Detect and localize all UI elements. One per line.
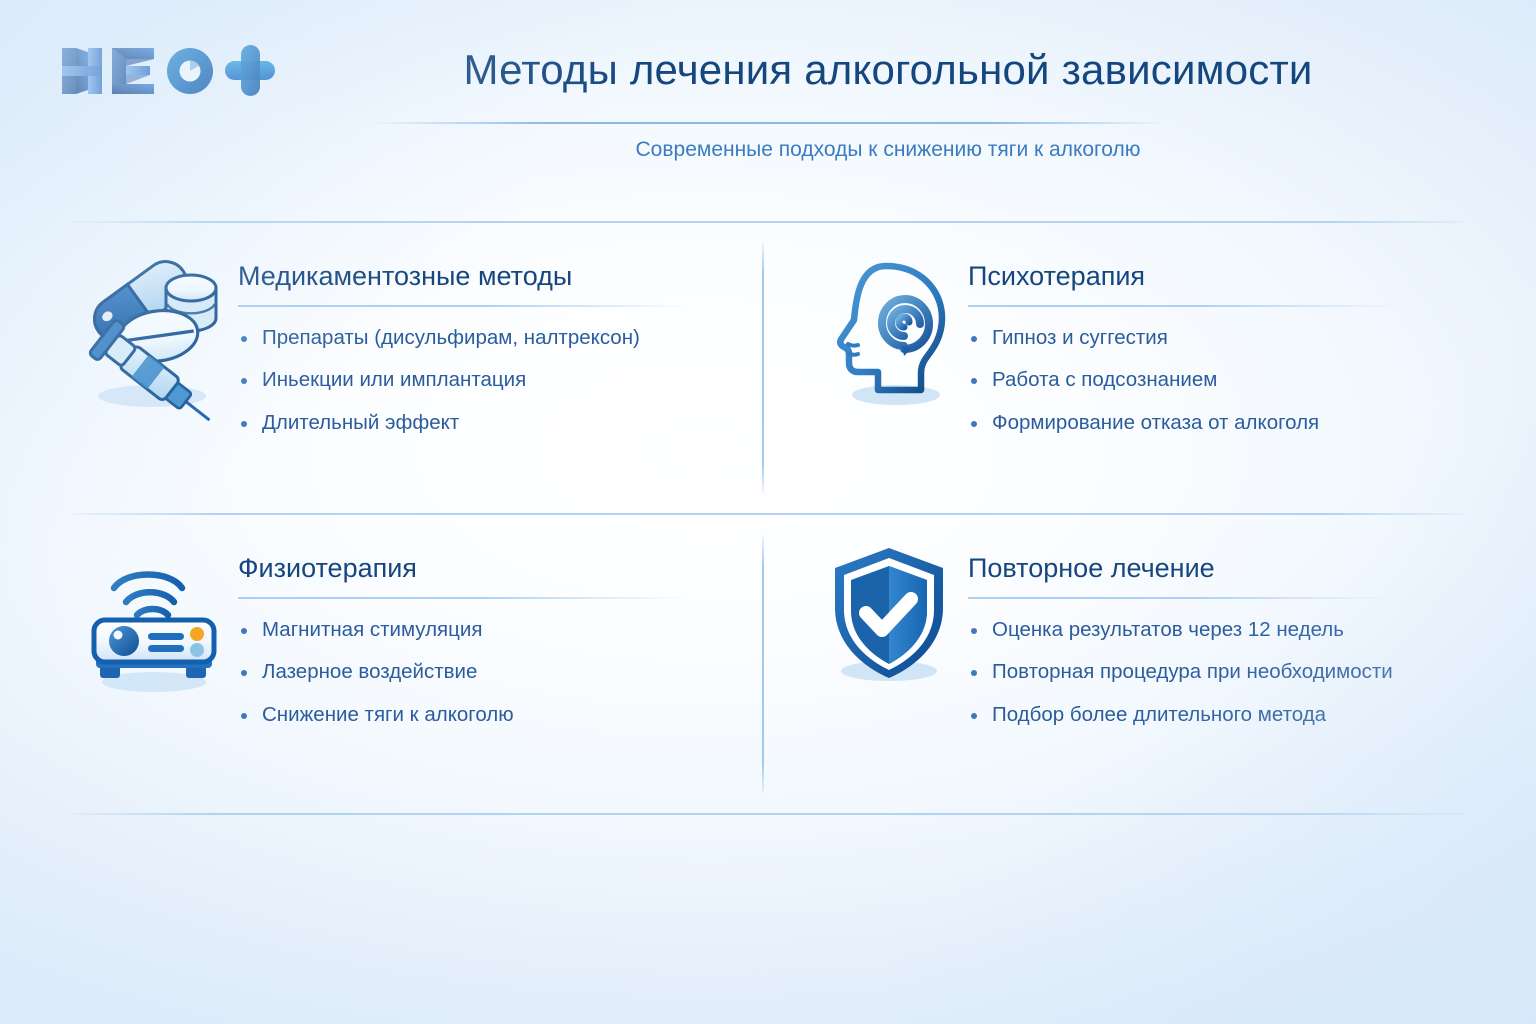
- bullet-list: Препараты (дисульфирам, налтрексон) Инье…: [238, 307, 748, 436]
- head-spiral-icon: [818, 248, 968, 418]
- list-item: Повторная процедура при необходимости: [968, 659, 1478, 685]
- list-item: Формирование отказа от алкоголя: [968, 410, 1478, 436]
- list-item: Магнитная стимуляция: [238, 617, 748, 643]
- cards-grid: Медикаментозные методы Препараты (дисуль…: [0, 0, 1536, 1024]
- list-item: Оценка результатов через 12 недель: [968, 617, 1478, 643]
- card-title: Повторное лечение: [968, 554, 1478, 584]
- list-item: Подбор более длительного метода: [968, 702, 1478, 728]
- list-item: Работа с подсознанием: [968, 367, 1478, 393]
- list-item: Иньекции или имплантация: [238, 367, 748, 393]
- list-item: Лазерное воздействие: [238, 659, 748, 685]
- card-repeat-treatment: Повторное лечение Оценка результатов чер…: [818, 540, 1478, 745]
- card-physiotherapy: Физиотерапия Магнитная стимуляция Лазерн…: [78, 540, 748, 745]
- card-medication: Медикаментозные методы Препараты (дисуль…: [78, 248, 748, 453]
- therapy-device-waves-icon: [78, 540, 238, 710]
- card-title: Психотерапия: [968, 262, 1478, 292]
- card-body: Физиотерапия Магнитная стимуляция Лазерн…: [238, 540, 748, 745]
- card-title: Медикаментозные методы: [238, 262, 748, 292]
- bullet-list: Магнитная стимуляция Лазерное воздействи…: [238, 599, 748, 728]
- list-item: Гипноз и суггестия: [968, 325, 1478, 351]
- card-title: Физиотерапия: [238, 554, 748, 584]
- list-item: Снижение тяги к алкоголю: [238, 702, 748, 728]
- infographic-poster: Методы лечения алкогольной зависимости С…: [0, 0, 1536, 1024]
- shield-check-icon: [818, 540, 968, 710]
- list-item: Длительный эффект: [238, 410, 748, 436]
- bullet-list: Оценка результатов через 12 недель Повто…: [968, 599, 1478, 728]
- card-body: Медикаментозные методы Препараты (дисуль…: [238, 248, 748, 453]
- card-psychotherapy: Психотерапия Гипноз и суггестия Работа с…: [818, 248, 1478, 453]
- pills-syringe-icon: [78, 248, 238, 418]
- list-item: Препараты (дисульфирам, налтрексон): [238, 325, 748, 351]
- bullet-list: Гипноз и суггестия Работа с подсознанием…: [968, 307, 1478, 436]
- card-body: Повторное лечение Оценка результатов чер…: [968, 540, 1478, 745]
- card-body: Психотерапия Гипноз и суггестия Работа с…: [968, 248, 1478, 453]
